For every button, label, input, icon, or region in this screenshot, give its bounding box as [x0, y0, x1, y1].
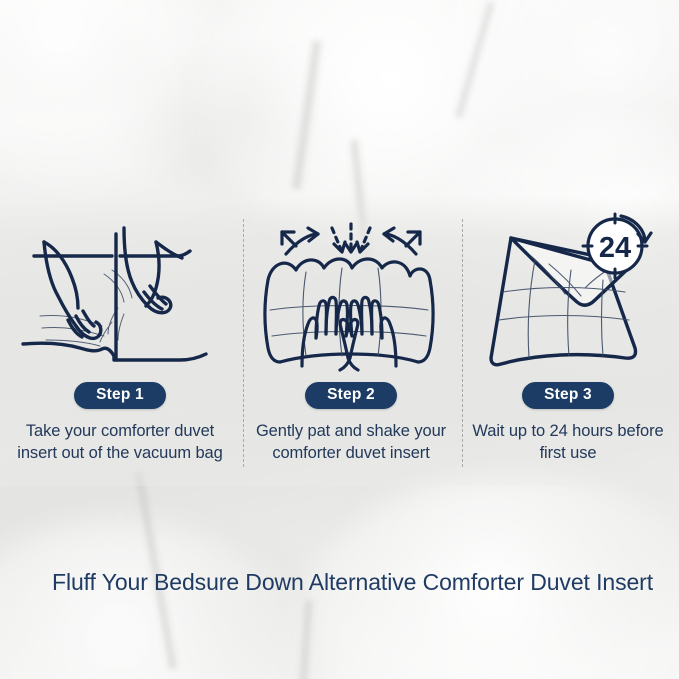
- step-1-badge: Step 1: [74, 382, 166, 409]
- step-3-badge: Step 3: [522, 382, 614, 409]
- step-1: Step 1 Take your comforter duvet insert …: [8, 212, 232, 465]
- step-2-caption: Gently pat and shake your comforter duve…: [248, 421, 454, 465]
- step-2: Step 2 Gently pat and shake your comfort…: [239, 212, 463, 465]
- step-1-illustration: [8, 212, 232, 372]
- infographic-root: Step 1 Take your comforter duvet insert …: [0, 0, 679, 679]
- step-3-illustration: 24: [456, 212, 679, 372]
- headline: Fluff Your Bedsure Down Alternative Comf…: [52, 566, 662, 599]
- timer-24-label: 24: [599, 232, 631, 264]
- step-2-badge: Step 2: [305, 382, 397, 409]
- step-1-caption: Take your comforter duvet insert out of …: [17, 421, 223, 465]
- step-3-caption: Wait up to 24 hours before first use: [465, 421, 671, 465]
- step-2-illustration: [239, 212, 463, 372]
- step-3: 24 Step 3 Wait up to 24 hours before fir…: [456, 212, 679, 465]
